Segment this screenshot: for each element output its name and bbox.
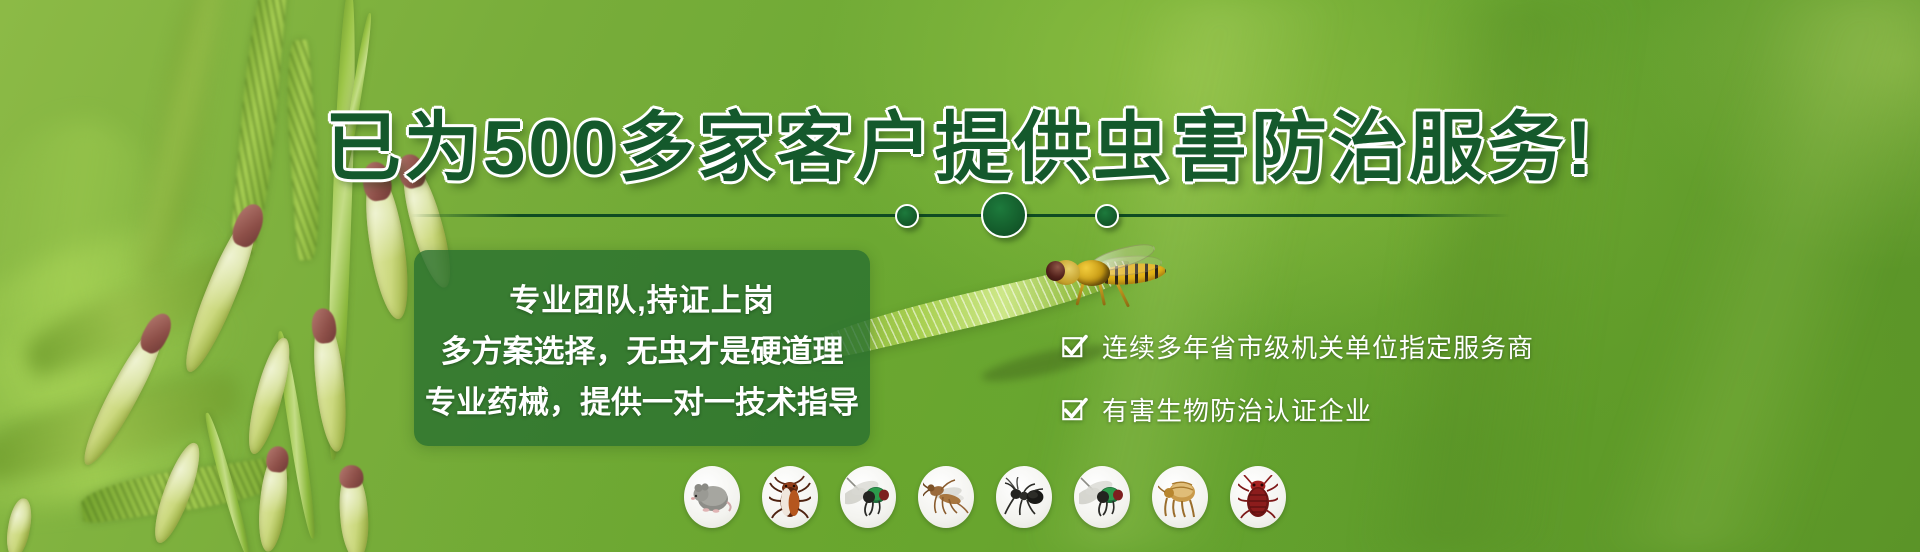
credential-label: 有害生物防治认证企业 [1102,391,1372,428]
credentials-list: 连续多年省市级机关单位指定服务商 有害生物防治认证企业 [1062,328,1534,428]
pest-icon-row [684,466,1286,528]
bedbug-icon[interactable] [1230,466,1286,528]
decorative-dot-group [895,190,1125,240]
credential-label: 连续多年省市级机关单位指定服务商 [1102,328,1534,365]
blowfly-icon[interactable] [1074,466,1130,528]
checkbox-checked-icon [1062,397,1088,423]
flea-icon[interactable] [1152,466,1208,528]
feature-line-2: 多方案选择，无虫才是硬道理 [441,326,844,371]
ant-icon[interactable] [996,466,1052,528]
mouse-icon[interactable] [684,466,740,528]
decorative-dot-large-center [981,192,1027,238]
features-panel-text: 专业团队,持证上岗 多方案选择，无虫才是硬道理 专业药械，提供一对一技术指导 [414,250,870,446]
list-item: 有害生物防治认证企业 [1062,391,1534,428]
mosquito-icon[interactable] [918,466,974,528]
page-title: 已为500多家客户提供虫害防治服务! [0,86,1920,196]
feature-line-3: 专业药械，提供一对一技术指导 [425,377,859,422]
decorative-dot-small-left [895,204,919,228]
fly-icon[interactable] [840,466,896,528]
list-item: 连续多年省市级机关单位指定服务商 [1062,328,1534,365]
decorative-dot-small-right [1095,204,1119,228]
cockroach-icon[interactable] [762,466,818,528]
feature-line-1: 专业团队,持证上岗 [509,275,775,320]
pest-control-hero-banner: 已为500多家客户提供虫害防治服务! 专业团队,持证上岗 多方案选择，无虫才是硬… [0,0,1920,552]
hoverfly-icon [1046,252,1166,310]
checkbox-checked-icon [1062,334,1088,360]
